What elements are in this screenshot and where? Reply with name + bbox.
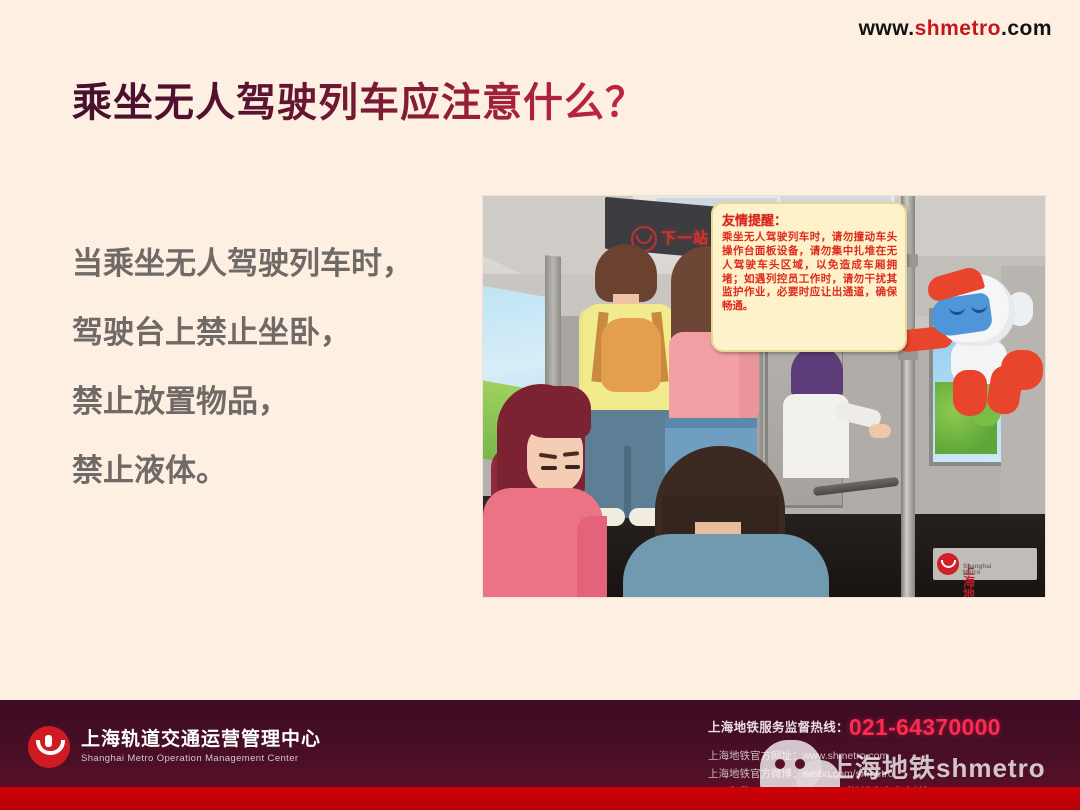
notice-title: 友情提醒： [722, 210, 897, 229]
site-url: www.shmetro.com [859, 17, 1052, 41]
mascot-leg-left [953, 370, 987, 416]
body-line-2: 驾驶台上禁止坐卧， [72, 317, 472, 348]
metro-mark-icon [937, 553, 959, 575]
body-line-3: 禁止放置物品， [72, 386, 472, 417]
passenger-purple-hand [869, 424, 891, 438]
page-title: 乘坐无人驾驶列车应注意什么？ [72, 70, 646, 128]
train-interior-illustration: 下一站 [483, 196, 1045, 597]
body-line-1: 当乘坐无人驾驶列车时， [72, 248, 472, 279]
mascot-hand [1001, 350, 1043, 390]
slide-root: www.shmetro.com 乘坐无人驾驶列车应注意什么？ 当乘坐无人驾驶列车… [0, 0, 1080, 810]
footer-org-logo: 上海轨道交通运营管理中心 Shanghai Metro Operation Ma… [28, 726, 321, 768]
notice-bubble: 友情提醒： 乘坐无人驾驶列车时，请勿撞动车头操作台面板设备，请勿集中扎堆在无人驾… [711, 202, 907, 352]
backpack [601, 318, 661, 392]
hotline-number: 021-64370000 [849, 714, 1001, 740]
passenger-woman-eye-left [541, 466, 557, 470]
notice-text: 乘坐无人驾驶列车时，请勿撞动车头操作台面板设备，请勿集中扎堆在无人驾驶车头区域，… [722, 231, 897, 314]
site-url-suffix: .com [1001, 17, 1052, 40]
hotline-label: 上海地铁服务监督热线： [708, 720, 849, 734]
led-next-station-text: 下一站 [661, 227, 709, 248]
passenger-man-body [623, 534, 829, 597]
wechat-icon [760, 740, 822, 792]
body-line-4: 禁止液体。 [72, 455, 472, 486]
footer-org-text: 上海轨道交通运营管理中心 Shanghai Metro Operation Ma… [81, 729, 321, 765]
site-url-brand: shmetro [915, 17, 1001, 40]
passenger-girl-skirt-band [665, 418, 757, 428]
metro-logo-en: Shanghai Metro [963, 564, 992, 576]
metro-mascot [897, 270, 1045, 420]
wechat-watermark: 上海地铁shmetro [760, 740, 1046, 792]
metro-circle-icon [28, 726, 70, 768]
footer: 上海轨道交通运营管理中心 Shanghai Metro Operation Ma… [0, 700, 1080, 810]
hotline: 上海地铁服务监督热线：021-64370000 [708, 716, 1064, 739]
shanghai-metro-logo: 上海地铁 Shanghai Metro [933, 548, 1037, 580]
watermark-text: 上海地铁shmetro [828, 748, 1046, 785]
footer-org-cn: 上海轨道交通运营管理中心 [81, 729, 321, 751]
passenger-woman-eye-right [565, 465, 580, 469]
body-copy: 当乘坐无人驾驶列车时， 驾驶台上禁止坐卧， 禁止放置物品， 禁止液体。 [72, 248, 472, 524]
footer-red-band [0, 787, 1080, 810]
footer-org-en: Shanghai Metro Operation Management Cent… [81, 754, 321, 765]
passenger-woman-arm [577, 516, 607, 597]
site-url-prefix: www. [859, 17, 915, 40]
passenger-boy-leg-gap [624, 446, 631, 518]
passenger-woman-fringe [517, 386, 591, 438]
